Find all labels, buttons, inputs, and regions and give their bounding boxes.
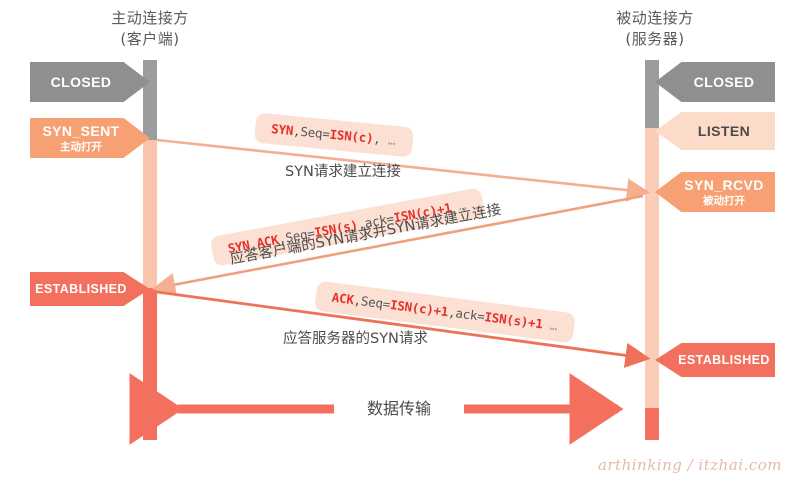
state-label: SYN_SENT — [42, 123, 119, 139]
state-label: CLOSED — [694, 74, 755, 90]
message-caption-syn: SYN请求建立连接 — [285, 160, 401, 181]
watermark: arthinking / itzhai.com — [598, 456, 782, 474]
state-label: ESTABLISHED — [678, 353, 770, 367]
message-caption-ack: 应答服务器的SYN请求 — [283, 327, 428, 348]
state-sublabel: 被动打开 — [703, 193, 745, 208]
state-label: SYN_RCVD — [684, 177, 763, 193]
tcp-handshake-diagram: 主动连接方 (客户端) 被动连接方 (服务器) — [0, 0, 800, 484]
state-label: ESTABLISHED — [35, 282, 127, 296]
state-sublabel: 主动打开 — [60, 139, 102, 154]
state-label: LISTEN — [698, 123, 750, 139]
data-transfer-label: 数据传输 — [334, 393, 464, 421]
state-label: CLOSED — [51, 74, 112, 90]
